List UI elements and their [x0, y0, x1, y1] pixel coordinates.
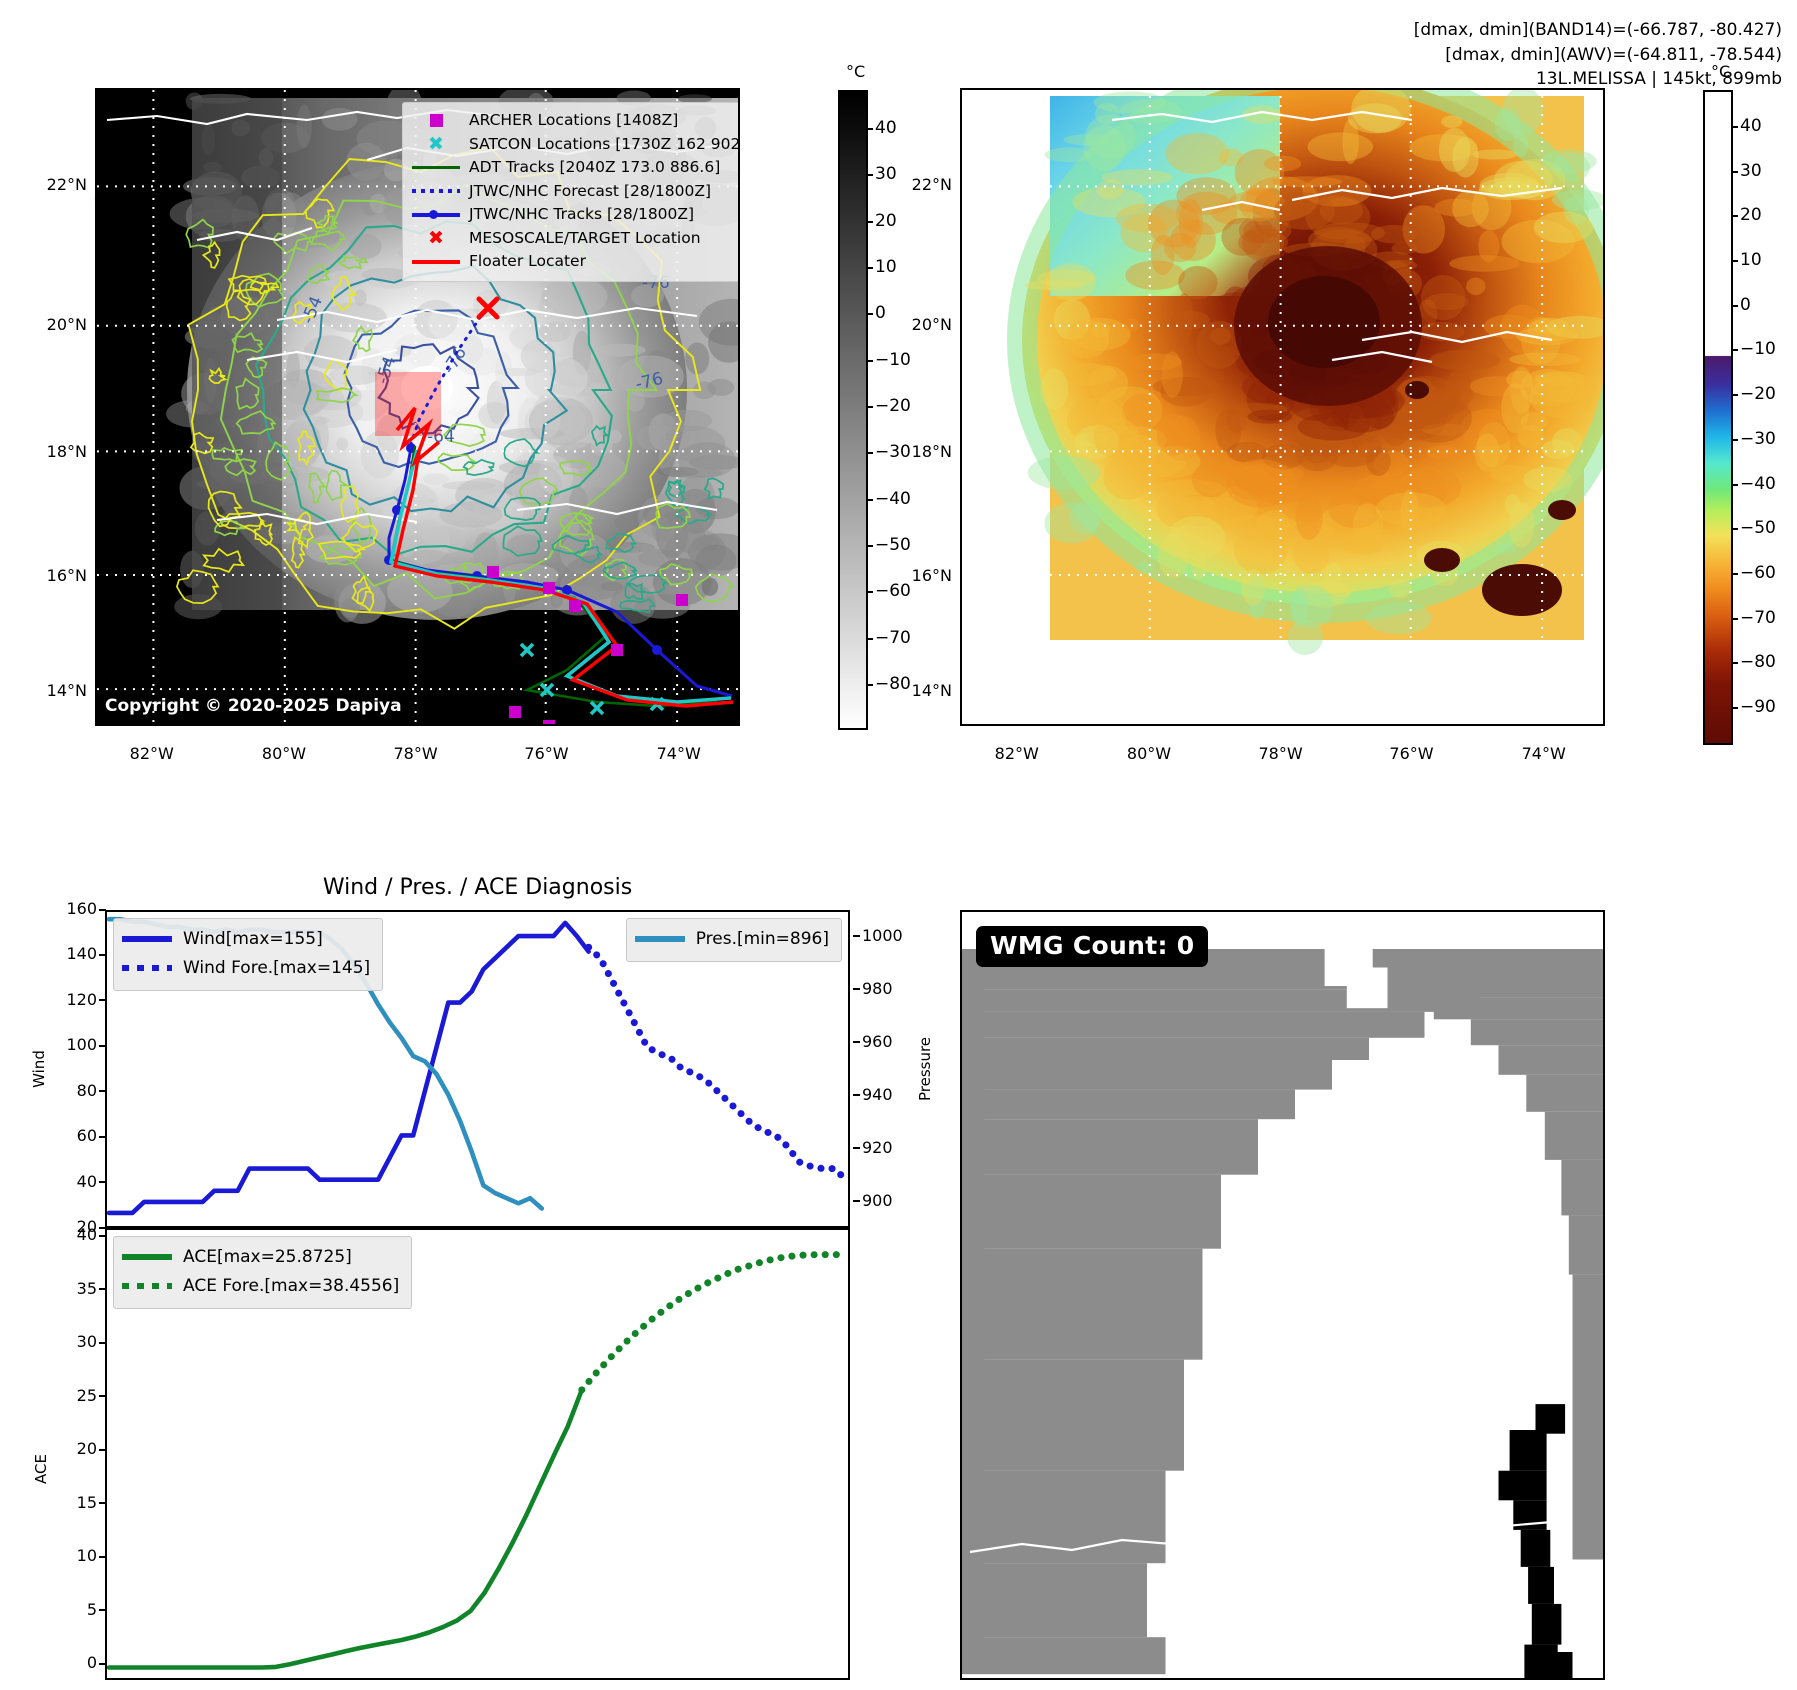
colorbar-tick: −10: [1740, 339, 1776, 359]
axis-tick: 940: [862, 1085, 922, 1104]
wmg-gray-region-5: [962, 1038, 1369, 1060]
wmg-gray-region-8: [962, 1119, 1258, 1175]
plot-legend-label: ACE[max=25.8725]: [183, 1243, 352, 1272]
plot-legend-item-0: ACE[max=25.8725]: [122, 1243, 399, 1272]
wv-lat-tick: 16°N: [894, 566, 952, 585]
series-0: [109, 1390, 582, 1668]
legend-item-0: ARCHER Locations [1408Z]: [411, 109, 740, 133]
axis-tick: 25: [41, 1386, 97, 1405]
wmg-black-cell-0: [1510, 1430, 1547, 1471]
dmax-band14-line: [dmax, dmin](BAND14)=(-66.787, -80.427): [1414, 18, 1782, 43]
axis-tick: 980: [862, 979, 922, 998]
wv-colorbar-ticks: 403020100−10−20−30−40−50−60−70−80−90: [1740, 90, 1797, 745]
ir-lat-tick: 20°N: [29, 315, 87, 334]
legend-item-label: MESOSCALE/TARGET Location: [469, 227, 701, 251]
legend-dotted-icon: [122, 1283, 172, 1289]
ir-lon-tick: 82°W: [122, 744, 182, 763]
wv-map-canvas: [962, 90, 1603, 724]
ir-colorbar: [838, 90, 868, 730]
legend-line-icon: [635, 936, 685, 942]
wmg-gray-arc-9: [1573, 1275, 1604, 1338]
wmg-black-cell-1: [1499, 1471, 1547, 1501]
colorbar-tick: 0: [1740, 295, 1751, 315]
wmg-gray-arc-7: [1561, 1160, 1603, 1216]
legend-line-icon: [122, 1254, 172, 1260]
colorbar-tick: −20: [875, 396, 911, 416]
pressure-axis-label: Pressure: [916, 1024, 934, 1114]
axis-tick: 30: [41, 1332, 97, 1351]
ir-colorbar-title: °C: [846, 62, 865, 81]
legend-item-label: Floater Locater: [469, 250, 586, 274]
axis-tick: 160: [41, 899, 97, 918]
wv-lat-tick: 20°N: [894, 315, 952, 334]
plot-legend-item-0: Wind[max=155]: [122, 925, 370, 954]
wv-cold-blob-1: [1424, 548, 1460, 572]
colorbar-tick: 40: [1740, 116, 1762, 136]
plot-legend-item-0: Pres.[min=896]: [635, 925, 829, 954]
legend-line-marker-icon: [412, 209, 460, 220]
axis-tick: 900: [862, 1191, 922, 1210]
ace-chart[interactable]: ACE[max=25.8725]ACE Fore.[max=38.4556]: [105, 1228, 850, 1680]
colorbar-tick: 20: [1740, 205, 1762, 225]
wv-lon-tick: 76°W: [1382, 744, 1442, 763]
legend-item-label: JTWC/NHC Tracks [28/1800Z]: [469, 203, 694, 227]
legend-x-icon: ✖: [428, 229, 444, 248]
pressure-legend: Pres.[min=896]: [626, 918, 842, 962]
plot-legend-item-1: Wind Fore.[max=145]: [122, 954, 370, 983]
colorbar-tick: −50: [875, 535, 911, 555]
plot-legend-label: Wind[max=155]: [183, 925, 323, 954]
wv-cold-blob-2: [1548, 500, 1576, 520]
ir-lon-tick: 74°W: [649, 744, 709, 763]
wmg-gray-region-7: [962, 1090, 1295, 1120]
legend-dotted-icon: [412, 189, 460, 193]
axis-tick: 960: [862, 1032, 922, 1051]
axis-tick: 120: [41, 990, 97, 1009]
axis-tick: 40: [41, 1225, 97, 1244]
wv-colorbar: [1703, 90, 1733, 745]
colorbar-tick: 10: [875, 257, 897, 277]
plot-legend-label: ACE Fore.[max=38.4556]: [183, 1272, 399, 1301]
legend-dotted-icon: [122, 965, 172, 971]
colorbar-tick: −40: [1740, 474, 1776, 494]
legend-x-icon: ✖: [428, 135, 444, 154]
ace-axis-label: ACE: [32, 1424, 50, 1514]
ir-lat-tick: 18°N: [29, 442, 87, 461]
wind-axis-label: Wind: [30, 1024, 48, 1114]
ir-lon-tick: 78°W: [386, 744, 446, 763]
axis-tick: 920: [862, 1138, 922, 1157]
colorbar-tick: −50: [1740, 518, 1776, 538]
wmg-count-badge: WMG Count: 0: [976, 926, 1208, 967]
ir-lat-tick: 16°N: [29, 566, 87, 585]
legend-item-6: Floater Locater: [411, 250, 740, 274]
axis-tick: 100: [41, 1035, 97, 1054]
wmg-black-cell-3: [1521, 1530, 1551, 1567]
legend-item-5: ✖MESOSCALE/TARGET Location: [411, 227, 740, 251]
axis-tick: 1000: [862, 926, 922, 945]
wmg-gray-arc-1: [1369, 975, 1603, 997]
axis-tick: 10: [41, 1546, 97, 1565]
colorbar-tick: −30: [1740, 429, 1776, 449]
wmg-gray-cell-d: [969, 1393, 988, 1415]
wmg-gray-arc-5: [1526, 1075, 1603, 1112]
wv-lat-tick: 22°N: [894, 175, 952, 194]
plot-legend-label: Wind Fore.[max=145]: [183, 954, 370, 983]
colorbar-tick: −70: [875, 628, 911, 648]
wmg-black-cell-4: [1528, 1567, 1554, 1604]
archer-location-1: [543, 582, 555, 594]
wv-cold-blob-0: [1482, 564, 1562, 616]
wmg-gray-region-11: [962, 1360, 1184, 1471]
legend-line-icon: [412, 260, 460, 263]
colorbar-tick: −80: [1740, 652, 1776, 672]
wmg-gray-region-14: [962, 1637, 1166, 1674]
wmg-gray-arc-8: [1569, 1215, 1603, 1274]
wmg-gray-arc-6: [1545, 1112, 1603, 1160]
ace-legend: ACE[max=25.8725]ACE Fore.[max=38.4556]: [113, 1236, 412, 1309]
legend-item-4: JTWC/NHC Tracks [28/1800Z]: [411, 203, 740, 227]
wv-satellite-map[interactable]: [960, 88, 1605, 726]
legend-line-icon: [412, 166, 460, 169]
wmg-white-notch-2: [1347, 968, 1388, 1009]
ir-map-legend: ARCHER Locations [1408Z]✖SATCON Location…: [402, 102, 740, 282]
legend-item-2: ADT Tracks [2040Z 173.0 886.6]: [411, 156, 740, 180]
ir-lat-tick: 22°N: [29, 175, 87, 194]
ir-satellite-map[interactable]: -54-54-64-76-76-76 ARCHER Locations [140…: [95, 88, 740, 726]
colorbar-tick: −70: [1740, 608, 1776, 628]
wv-lat-tick: 18°N: [894, 442, 952, 461]
wv-colorbar-title: °C: [1711, 62, 1730, 81]
colorbar-tick: 30: [1740, 161, 1762, 181]
axis-tick: 60: [41, 1126, 97, 1145]
ir-lat-tick: 14°N: [29, 681, 87, 700]
colorbar-tick: 10: [1740, 250, 1762, 270]
wmg-gray-arc-3: [1471, 1019, 1603, 1045]
series-1: [582, 1255, 846, 1390]
wmg-gray-region-9: [962, 1175, 1221, 1249]
colorbar-tick: −20: [1740, 384, 1776, 404]
archer-location-0: [487, 566, 499, 578]
axis-tick: 35: [41, 1279, 97, 1298]
colorbar-tick: 0: [875, 303, 886, 323]
wmg-gray-region-10: [962, 1249, 1203, 1360]
wmg-black-cell-5: [1532, 1604, 1562, 1645]
axis-tick: 40: [41, 1172, 97, 1191]
legend-line-icon: [122, 936, 172, 942]
wind-legend: Wind[max=155]Wind Fore.[max=145]: [113, 918, 383, 991]
ir-lon-tick: 80°W: [254, 744, 314, 763]
wv-lat-tick: 14°N: [894, 681, 952, 700]
colorbar-tick: −60: [1740, 563, 1776, 583]
colorbar-tick: −10: [875, 350, 911, 370]
wmg-gray-region-6: [962, 1060, 1332, 1090]
wmg-black-cell-17: [1536, 1404, 1566, 1434]
legend-square-icon: [430, 114, 443, 127]
wmg-panel[interactable]: WMG Count: 0: [960, 910, 1605, 1680]
wv-lon-tick: 82°W: [987, 744, 1047, 763]
ir-lon-tick: 76°W: [517, 744, 577, 763]
legend-item-1: ✖SATCON Locations [1730Z 162 902]: [411, 133, 740, 157]
wind-pressure-chart[interactable]: Wind[max=155]Wind Fore.[max=145] Pres.[m…: [105, 910, 850, 1228]
series-1: [589, 947, 846, 1179]
wmg-gray-arc-2: [1434, 997, 1603, 1019]
legend-item-label: ARCHER Locations [1408Z]: [469, 109, 678, 133]
archer-location-9: [676, 594, 688, 606]
colorbar-tick: 40: [875, 118, 897, 138]
wmg-gray-region-4: [962, 1012, 1425, 1038]
wmg-gray-arc-4: [1499, 1045, 1604, 1075]
axis-tick: 80: [41, 1081, 97, 1100]
wv-cold-blob-3: [1405, 381, 1429, 399]
wmg-gray-region-13: [962, 1563, 1147, 1637]
copyright-text: Copyright © 2020-2025 Dapiya: [105, 696, 402, 716]
colorbar-tick: 20: [875, 211, 897, 231]
plot-legend-item-1: ACE Fore.[max=38.4556]: [122, 1272, 399, 1301]
wv-lon-tick: 78°W: [1251, 744, 1311, 763]
wv-lon-tick: 80°W: [1119, 744, 1179, 763]
colorbar-tick: −90: [1740, 697, 1776, 717]
legend-item-label: ADT Tracks [2040Z 173.0 886.6]: [469, 156, 720, 180]
plot-legend-label: Pres.[min=896]: [696, 925, 829, 954]
colorbar-tick: −40: [875, 489, 911, 509]
axis-tick: 140: [41, 944, 97, 963]
axis-tick: 5: [41, 1600, 97, 1619]
wv-lon-tick: 74°W: [1514, 744, 1574, 763]
legend-item-label: JTWC/NHC Forecast [28/1800Z]: [469, 180, 711, 204]
wmg-black-cell-16: [1547, 1652, 1573, 1678]
wmg-gray-region-15: [962, 949, 984, 1671]
legend-item-label: SATCON Locations [1730Z 162 902]: [469, 133, 740, 157]
wmg-gray-arc-10: [1573, 1338, 1604, 1560]
wmg-map-canvas: [962, 912, 1603, 1678]
wind-pres-ace-title: Wind / Pres. / ACE Diagnosis: [105, 875, 850, 900]
axis-tick: 0: [41, 1653, 97, 1672]
legend-item-3: JTWC/NHC Forecast [28/1800Z]: [411, 180, 740, 204]
